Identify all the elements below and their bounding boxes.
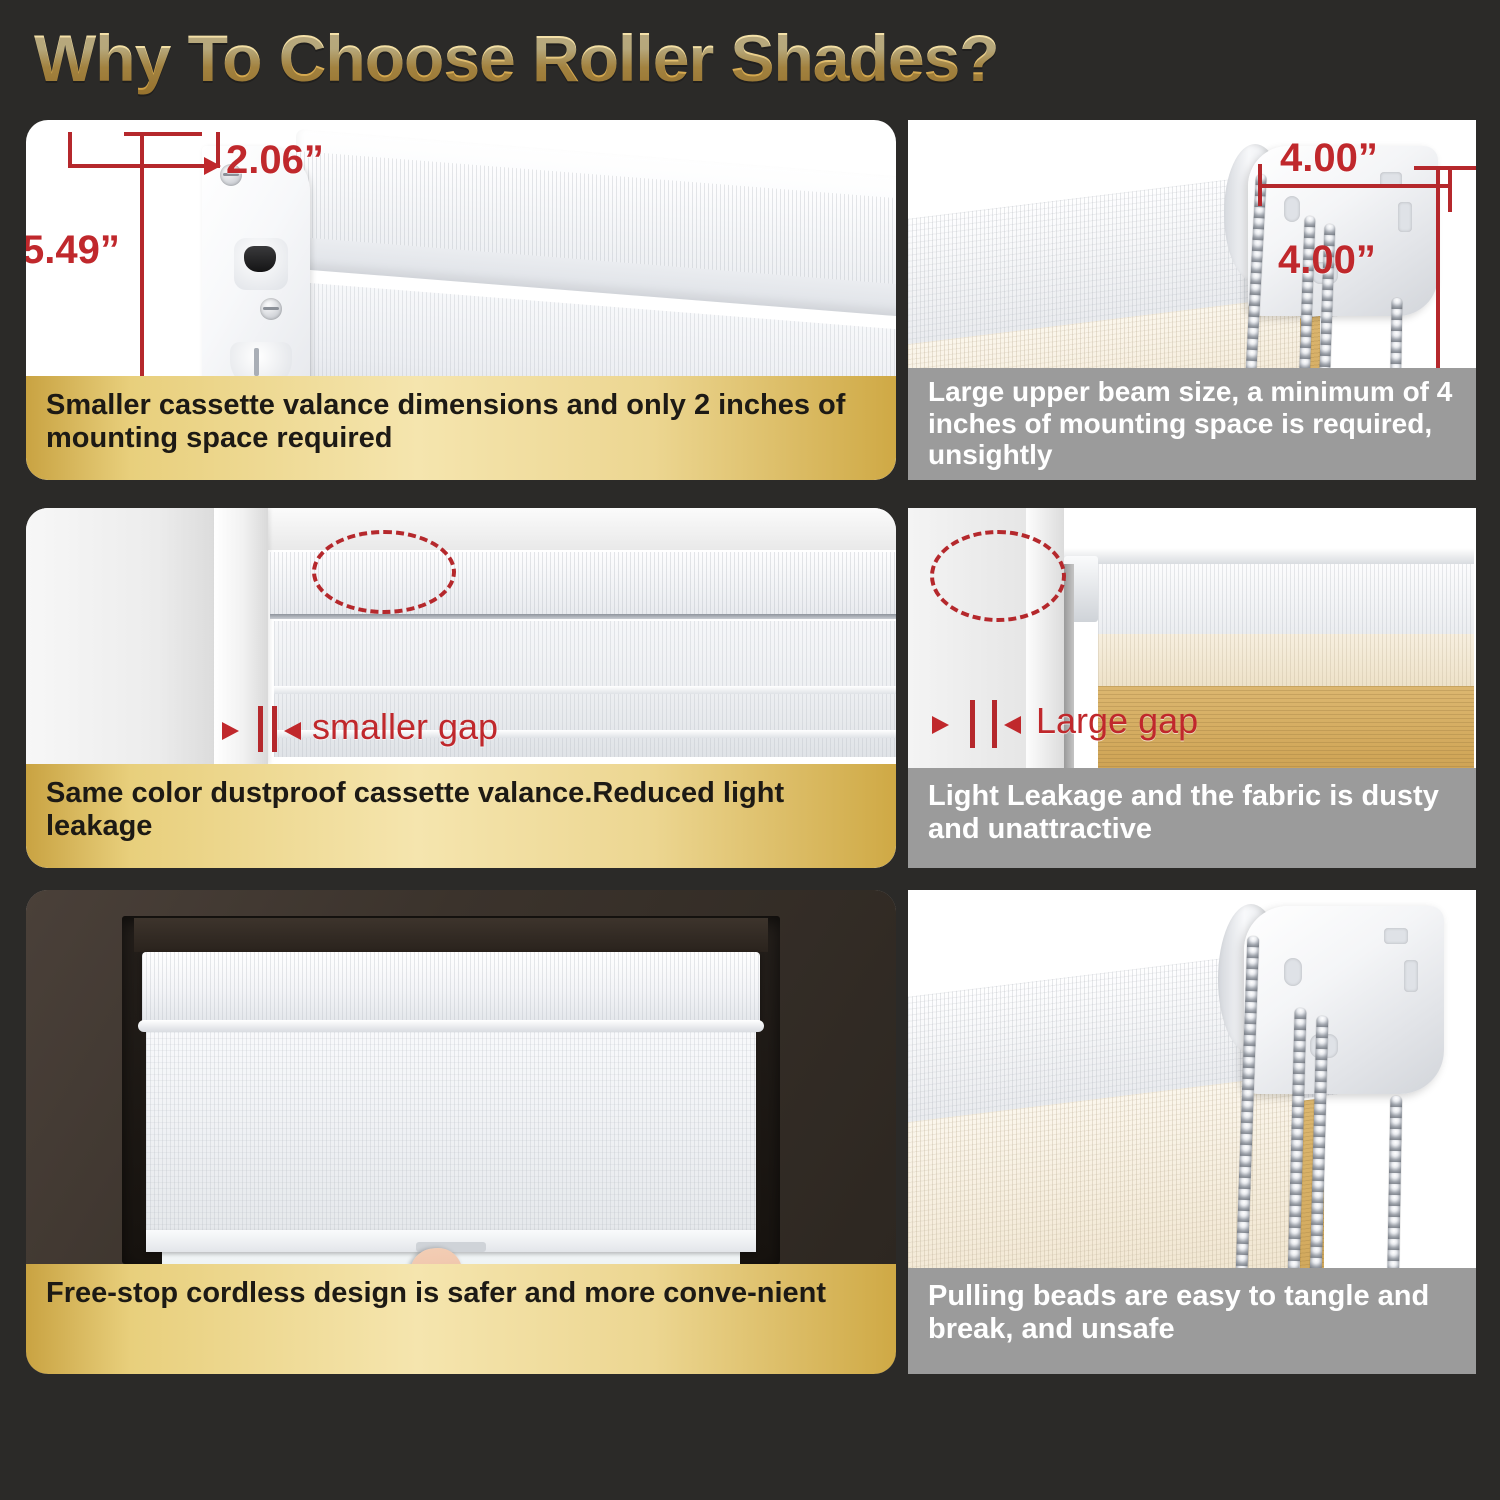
large-gap-label: Large gap xyxy=(1036,700,1198,742)
beam-height-label: 4.00” xyxy=(1278,238,1376,283)
bracket-slot xyxy=(1398,202,1412,232)
beam-height-tick-top xyxy=(1414,166,1476,170)
panel-dustproof-valance: smaller gap Same color dustproof cassett… xyxy=(26,508,896,868)
width-dimension-label: 2.06” xyxy=(226,138,324,183)
page-title: Why To Choose Roller Shades? xyxy=(34,20,999,96)
panel-pulling-beads: Pulling beads are easy to tangle and bre… xyxy=(908,890,1476,1374)
gap-highlight-circle xyxy=(312,530,456,614)
mounting-bracket xyxy=(1244,906,1444,1094)
shade-seam xyxy=(274,686,896,694)
roller-fabric-white xyxy=(1098,564,1474,634)
bracket-slot xyxy=(1384,928,1408,944)
panel-smaller-cassette: 2.06” 5.49” Smaller cassette valance dim… xyxy=(26,120,896,480)
panel-1-caption: Smaller cassette valance dimensions and … xyxy=(26,376,896,480)
smaller-gap-label: smaller gap xyxy=(312,706,498,748)
roller-shade-fabric xyxy=(146,1032,756,1246)
gap-edge-marker xyxy=(272,706,277,752)
width-dimension-tick-left xyxy=(68,132,72,168)
upper-beam xyxy=(1064,548,1474,564)
beam-width-label: 4.00” xyxy=(1280,136,1378,181)
gap-edge-marker xyxy=(992,700,997,748)
panel-2-caption: Large upper beam size, a minimum of 4 in… xyxy=(908,368,1476,480)
cassette-end-cap xyxy=(202,146,310,408)
cassette-valance xyxy=(142,952,760,1022)
panel-6-caption: Pulling beads are easy to tangle and bre… xyxy=(908,1268,1476,1374)
panel-light-leakage: Large gap Light Leakage and the fabric i… xyxy=(908,508,1476,868)
gap-arrow-right xyxy=(284,722,301,740)
panel-4-caption: Light Leakage and the fabric is dusty an… xyxy=(908,768,1476,868)
width-dimension-line xyxy=(70,164,220,168)
window-head-jamb xyxy=(214,508,896,550)
valance-gap xyxy=(270,614,896,619)
gap-arrow-left xyxy=(222,722,239,740)
wall-surface xyxy=(26,508,214,764)
panel-cordless-design: Free-stop cordless design is safer and m… xyxy=(26,890,896,1374)
width-dimension-arrow xyxy=(204,157,221,175)
gap-edge-marker xyxy=(258,706,263,752)
height-dimension-label: 5.49” xyxy=(26,228,120,273)
title-bar: Why To Choose Roller Shades? xyxy=(0,0,1500,112)
panel-3-caption: Same color dustproof cassette valance.Re… xyxy=(26,764,896,868)
valance-lip xyxy=(138,1020,764,1032)
window-header-trim xyxy=(134,918,768,952)
height-dimension-tick-top xyxy=(124,132,202,136)
bracket-slot xyxy=(1284,196,1300,222)
gap-arrow-left xyxy=(932,716,949,734)
screw-icon xyxy=(260,298,282,320)
roller-fabric-beige xyxy=(1098,634,1474,686)
bracket-slot xyxy=(1404,960,1418,992)
panel-large-upper-beam: 4.00” 4.00” Large upper beam size, a min… xyxy=(908,120,1476,480)
beam-width-tick-right xyxy=(1448,170,1452,212)
bracket-slot xyxy=(1284,958,1302,986)
gap-arrow-right xyxy=(1004,716,1021,734)
gap-edge-marker xyxy=(970,700,975,748)
gap-highlight-circle xyxy=(930,530,1066,622)
height-dimension-line xyxy=(140,134,144,406)
panel-5-caption: Free-stop cordless design is safer and m… xyxy=(26,1264,896,1374)
cassette-clutch-knob xyxy=(234,238,288,290)
beam-width-dimension-line xyxy=(1260,184,1452,188)
beam-width-tick-left xyxy=(1258,164,1262,206)
